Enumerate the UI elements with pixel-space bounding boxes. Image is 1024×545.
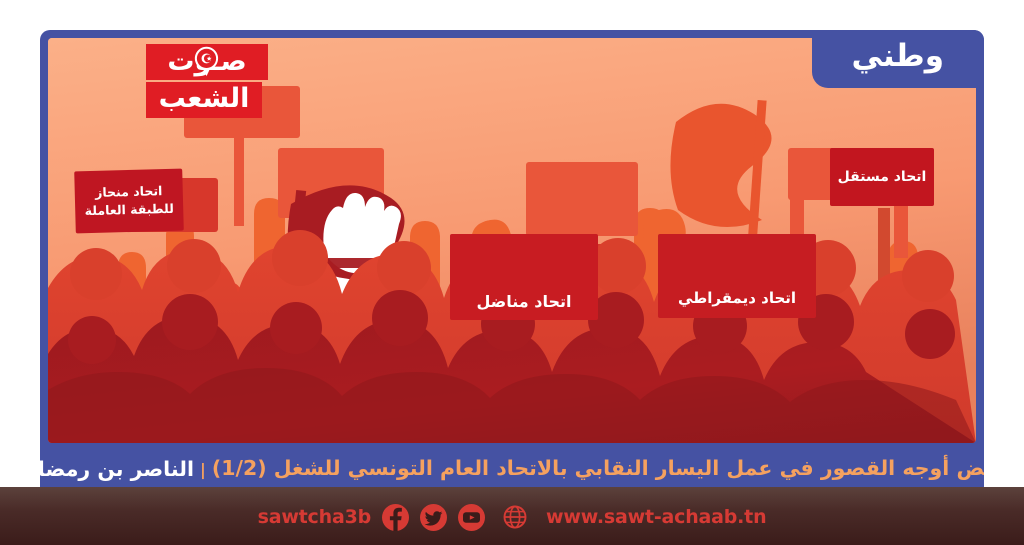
tunisia-flag-speech-bubble-icon (191, 46, 222, 77)
facebook-icon[interactable] (382, 504, 409, 531)
headline-separator: | (200, 460, 206, 479)
headline-title: بعض أوجه القصور في عمل اليسار النقابي با… (212, 456, 984, 482)
website-url[interactable]: www.sawt-achaab.tn (546, 506, 766, 528)
logo-box-bottom: الشعب (146, 82, 262, 118)
globe-icon[interactable] (501, 504, 528, 531)
headline-author: الناصر بن رمضان (40, 457, 194, 481)
board-group-b (108, 178, 218, 232)
footer-bar: sawtcha3b (0, 487, 1024, 545)
headline-bar: بعض أوجه القصور في عمل اليسار النقابي با… (48, 445, 976, 493)
social-handle: sawtcha3b (258, 506, 371, 528)
category-badge-label: وطني (852, 38, 945, 74)
card-frame: اتحاد منحازللطبقة العاملة اتحاد مناضل ات… (40, 30, 984, 500)
youtube-icon[interactable] (458, 504, 485, 531)
logo-text-line2: الشعب (159, 85, 250, 112)
twitter-icon[interactable] (420, 504, 447, 531)
site-logo[interactable]: صـوت الشعب (146, 44, 268, 118)
article-card: اتحاد منحازللطبقة العاملة اتحاد مناضل ات… (0, 0, 1024, 545)
category-badge[interactable]: وطني (812, 30, 985, 88)
